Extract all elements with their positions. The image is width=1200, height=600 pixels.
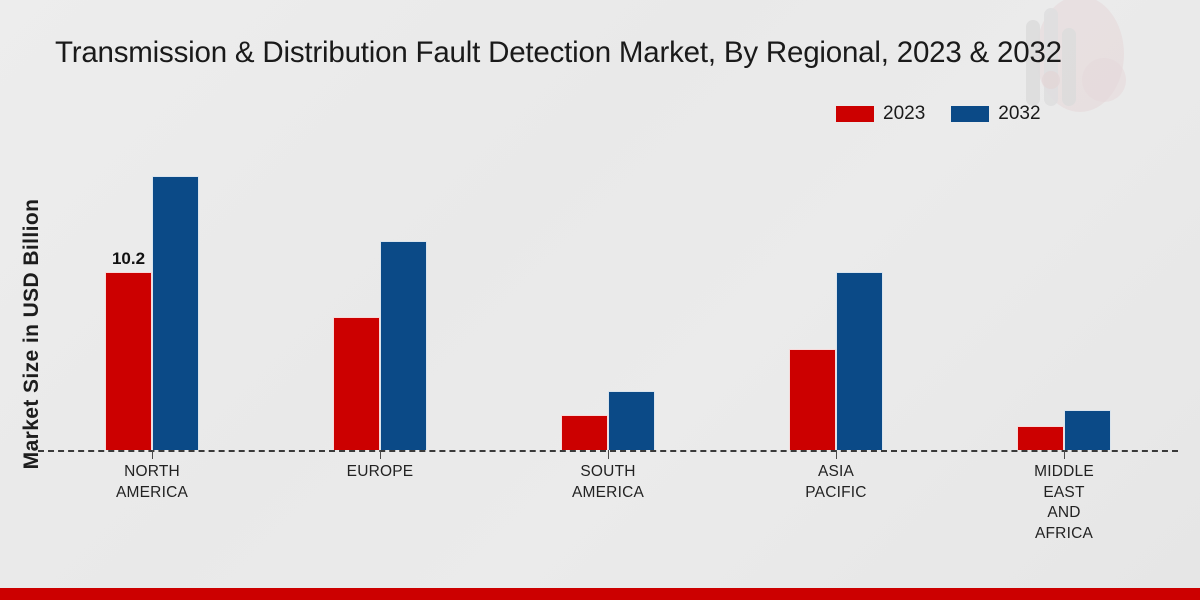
category-label-line: MIDDLE [969, 462, 1159, 483]
page-title: Transmission & Distribution Fault Detect… [55, 34, 1145, 73]
plot-area: 10.2NORTHAMERICAEUROPESOUTHAMERICAASIAPA… [38, 150, 1178, 451]
category-label-line: SOUTH [513, 462, 703, 483]
category-label-line: PACIFIC [741, 483, 931, 504]
x-axis-category-label: EUROPE [285, 462, 475, 483]
bar-group: ASIAPACIFIC [722, 150, 950, 450]
x-axis-category-label: MIDDLEEASTANDAFRICA [969, 462, 1159, 544]
bar-2023[interactable] [1017, 426, 1064, 450]
x-axis-category-label: SOUTHAMERICA [513, 462, 703, 503]
bar-pair: 10.2 [105, 150, 199, 450]
bar-2023[interactable]: 10.2 [105, 272, 152, 450]
legend-label-2023: 2023 [883, 103, 925, 125]
bar-2023[interactable] [333, 317, 380, 450]
bar-2032[interactable] [836, 272, 883, 450]
category-label-line: ASIA [741, 462, 931, 483]
bar-2023[interactable] [789, 349, 836, 450]
legend-item-2023[interactable]: 2023 [836, 103, 925, 125]
axis-tick [1064, 450, 1065, 459]
axis-tick [608, 450, 609, 459]
bar-group: EUROPE [266, 150, 494, 450]
bar-2032[interactable] [380, 241, 427, 450]
category-label-line: AMERICA [57, 483, 247, 504]
chart-infographic: Transmission & Distribution Fault Detect… [0, 0, 1200, 600]
bar-2023[interactable] [561, 415, 608, 450]
bar-pair [333, 150, 427, 450]
x-axis-category-label: NORTHAMERICA [57, 462, 247, 503]
legend-label-2032: 2032 [998, 103, 1040, 125]
bar-group: SOUTHAMERICA [494, 150, 722, 450]
category-label-line: AFRICA [969, 524, 1159, 545]
category-label-line: EUROPE [285, 462, 475, 483]
x-axis-category-label: ASIAPACIFIC [741, 462, 931, 503]
axis-tick [836, 450, 837, 459]
bar-value-label: 10.2 [112, 249, 145, 269]
bar-pair [1017, 150, 1111, 450]
bar-pair [561, 150, 655, 450]
bar-2032[interactable] [1064, 410, 1111, 450]
legend-item-2032[interactable]: 2032 [951, 103, 1040, 125]
legend-swatch-icon-2032 [951, 106, 989, 122]
bar-groups: 10.2NORTHAMERICAEUROPESOUTHAMERICAASIAPA… [38, 150, 1178, 450]
axis-tick [152, 450, 153, 459]
category-label-line: AMERICA [513, 483, 703, 504]
bottom-accent-strip [0, 588, 1200, 600]
bar-group: 10.2NORTHAMERICA [38, 150, 266, 450]
axis-tick [380, 450, 381, 459]
category-label-line: AND [969, 503, 1159, 524]
bar-2032[interactable] [608, 391, 655, 450]
category-label-line: EAST [969, 483, 1159, 504]
legend-swatch-icon-2023 [836, 106, 874, 122]
bar-2032[interactable] [152, 176, 199, 450]
chart-legend: 2023 2032 [836, 103, 1041, 125]
bar-pair [789, 150, 883, 450]
category-label-line: NORTH [57, 462, 247, 483]
bar-group: MIDDLEEASTANDAFRICA [950, 150, 1178, 450]
